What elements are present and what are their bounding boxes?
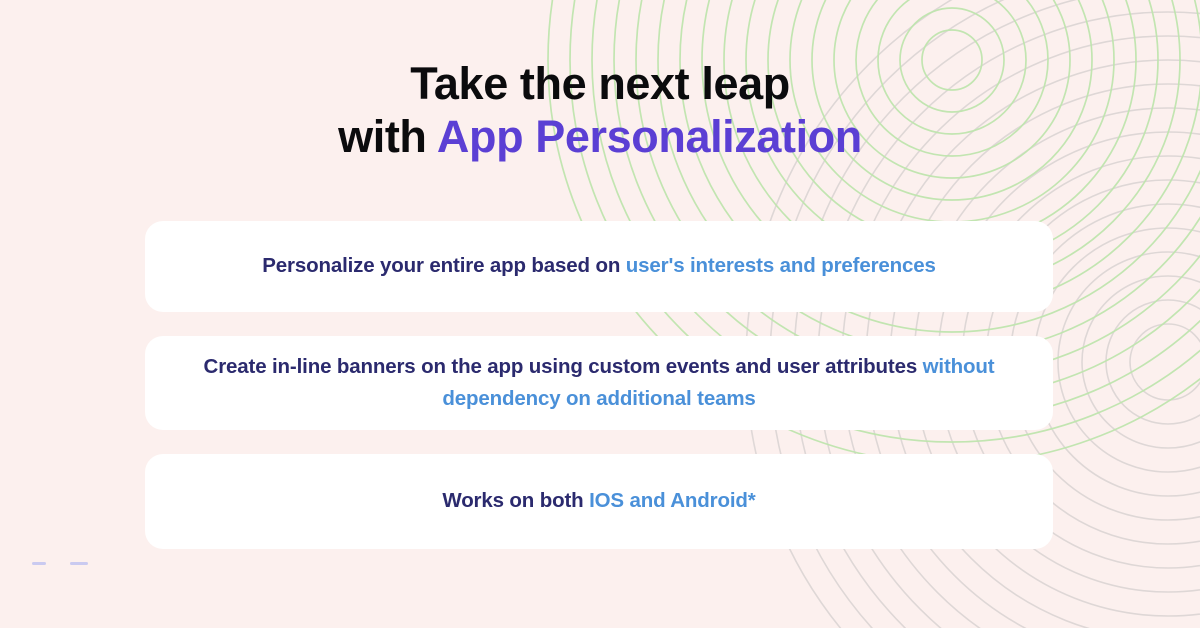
feature-text-prefix: Personalize your entire app based on	[262, 254, 626, 277]
feature-card-text: Personalize your entire app based on use…	[262, 250, 936, 282]
feature-text-accent: IOS and Android*	[589, 489, 756, 512]
feature-text-prefix: Create in-line banners on the app using …	[204, 355, 923, 378]
feature-card-text: Works on both IOS and Android*	[442, 485, 755, 517]
promo-banner: Take the next leap with App Personalizat…	[0, 0, 1200, 628]
feature-text-prefix: Works on both	[442, 489, 589, 512]
feature-text-accent: user's interests and preferences	[626, 254, 936, 277]
dash-mark-1	[32, 562, 46, 565]
feature-card-list: Personalize your entire app based on use…	[145, 221, 1053, 549]
decorative-dashes	[32, 562, 88, 565]
dash-mark-2	[70, 562, 88, 565]
headline-line-2: with App Personalization	[0, 111, 1200, 162]
headline-line-2-accent: App Personalization	[437, 111, 862, 162]
feature-card-inline-banners: Create in-line banners on the app using …	[145, 336, 1053, 430]
page-title: Take the next leap with App Personalizat…	[0, 58, 1200, 163]
feature-card-platform-support: Works on both IOS and Android*	[145, 454, 1053, 549]
headline-line-2-prefix: with	[338, 111, 437, 162]
feature-card-personalize-app: Personalize your entire app based on use…	[145, 221, 1053, 312]
feature-card-text: Create in-line banners on the app using …	[191, 351, 1007, 416]
headline-line-1: Take the next leap	[0, 58, 1200, 109]
